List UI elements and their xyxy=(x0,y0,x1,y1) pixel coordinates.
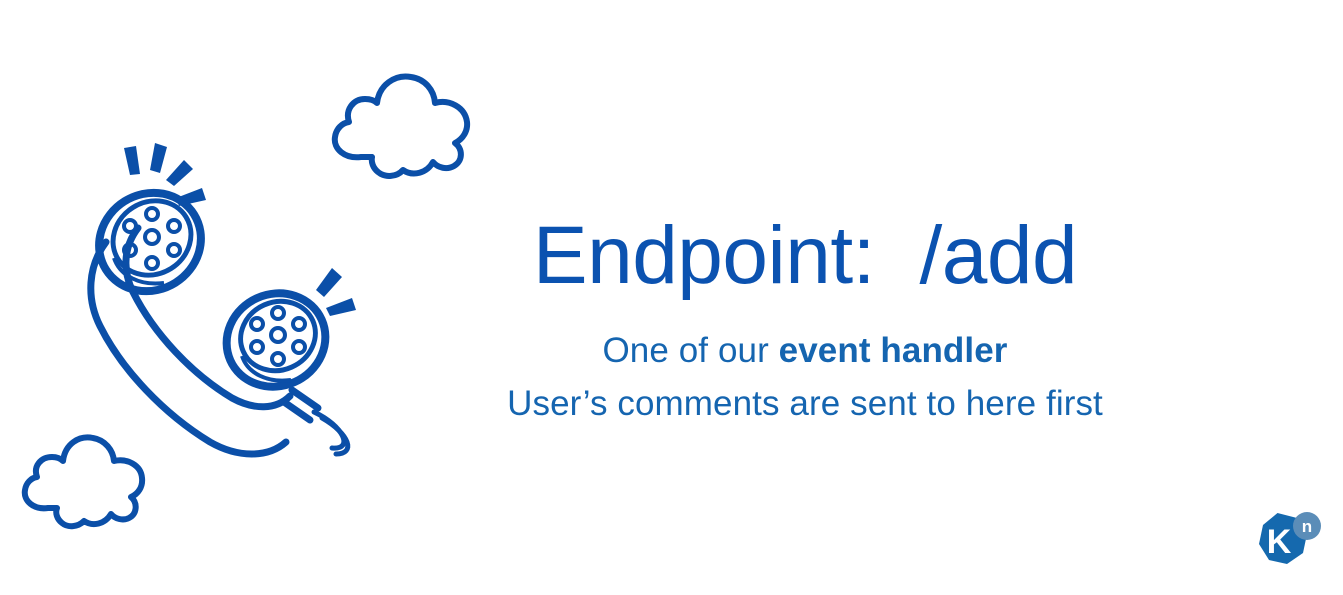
subtitle-line-2: User’s comments are sent to here first xyxy=(420,377,1190,430)
logo-letter-n: n xyxy=(1302,517,1312,536)
subtitle-block: One of our event handler User’s comments… xyxy=(420,324,1190,430)
cloud-outline-icon xyxy=(8,428,158,533)
cloud-outline-icon xyxy=(315,65,485,185)
slide-canvas: Endpoint: /add One of our event handler … xyxy=(0,0,1343,595)
knative-kn-logo: K n xyxy=(1247,505,1325,583)
page-title: Endpoint: /add xyxy=(420,214,1190,298)
subtitle-line-1-prefix: One of our xyxy=(602,331,778,370)
telephone-handset-illustration xyxy=(60,130,380,460)
logo-letter-k: K xyxy=(1267,523,1292,561)
slide-text-block: Endpoint: /add One of our event handler … xyxy=(420,214,1190,430)
subtitle-line-1: One of our event handler xyxy=(420,324,1190,377)
subtitle-line-1-emphasis: event handler xyxy=(779,331,1008,370)
